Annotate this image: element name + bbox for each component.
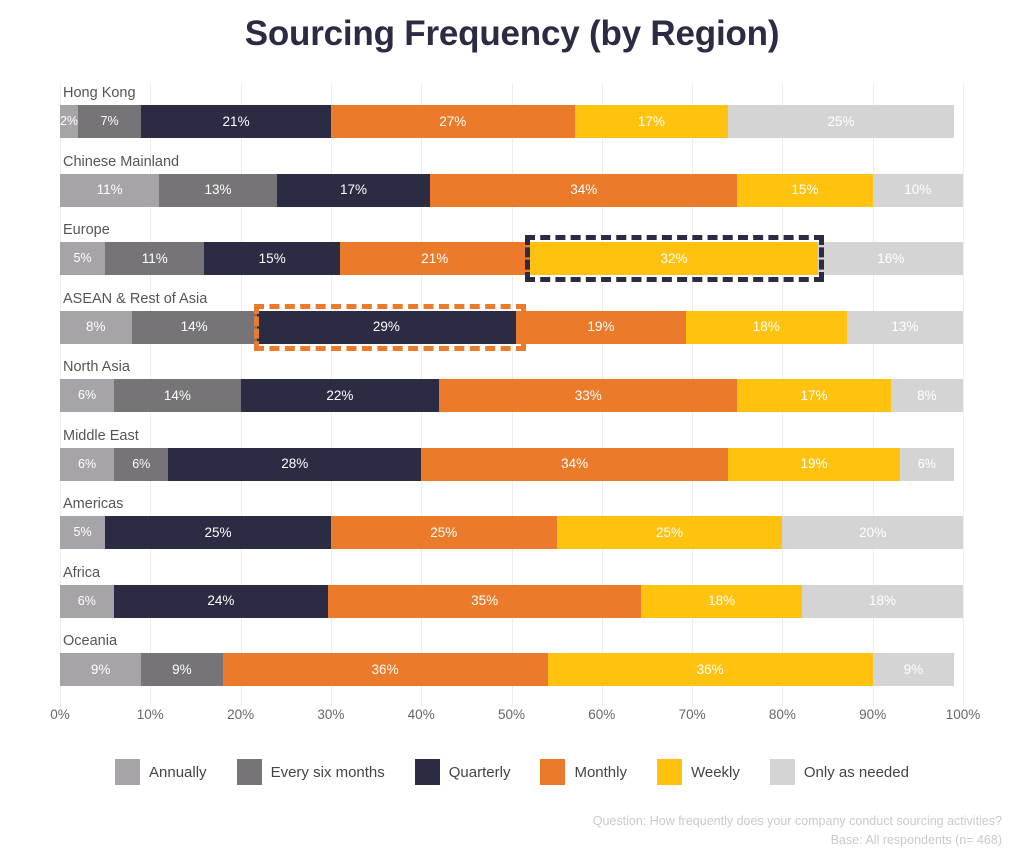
bar-segment[interactable]: 36%: [548, 653, 873, 686]
bar-segment-label: 2%: [60, 115, 78, 128]
bar-segment[interactable]: 32%: [530, 242, 819, 275]
bar-segment-label: 24%: [207, 594, 234, 608]
bar-segment-label: 22%: [326, 389, 353, 403]
bar-segment-label: 6%: [78, 389, 96, 402]
bar-segment[interactable]: 8%: [60, 311, 132, 344]
legend-label: Weekly: [691, 764, 740, 781]
bar-segment[interactable]: 14%: [114, 379, 240, 412]
bar-segment-label: 35%: [471, 594, 498, 608]
bar-segment-label: 5%: [74, 252, 92, 265]
x-axis-tick: 70%: [679, 707, 706, 722]
bar-segment[interactable]: 15%: [204, 242, 339, 275]
bar-segment[interactable]: 24%: [114, 585, 329, 618]
bar-segment-label: 18%: [708, 594, 735, 608]
legend-item[interactable]: Monthly: [540, 759, 627, 785]
row-label: Middle East: [63, 426, 139, 446]
legend: AnnuallyEvery six monthsQuarterlyMonthly…: [0, 759, 1024, 785]
legend-swatch-icon: [415, 759, 440, 785]
bar-segment-label: 27%: [439, 115, 466, 129]
bar-segment[interactable]: 13%: [847, 311, 963, 344]
bar-segment[interactable]: 17%: [737, 379, 891, 412]
bar-segment[interactable]: 22%: [241, 379, 440, 412]
stacked-bar: 11%13%17%34%15%10%: [60, 174, 963, 207]
bar-segment-label: 11%: [97, 183, 123, 197]
bar-segment-label: 18%: [753, 320, 780, 334]
bar-segment[interactable]: 29%: [257, 311, 516, 344]
bar-segment[interactable]: 18%: [686, 311, 847, 344]
bar-segment-label: 25%: [205, 526, 232, 540]
bar-segment-label: 7%: [101, 115, 119, 128]
bar-segment[interactable]: 25%: [557, 516, 783, 549]
legend-swatch-icon: [540, 759, 565, 785]
legend-label: Only as needed: [804, 764, 909, 781]
x-axis-tick: 0%: [50, 707, 70, 722]
bar-segment-label: 36%: [697, 663, 724, 677]
row-label: Americas: [63, 494, 123, 514]
legend-item[interactable]: Every six months: [237, 759, 385, 785]
legend-swatch-icon: [770, 759, 795, 785]
bar-segment[interactable]: 36%: [223, 653, 548, 686]
bar-segment[interactable]: 6%: [114, 448, 168, 481]
bar-segment[interactable]: 11%: [105, 242, 204, 275]
x-axis-tick: 30%: [317, 707, 344, 722]
bar-segment[interactable]: 33%: [439, 379, 737, 412]
stacked-bar: 6%14%22%33%17%8%: [60, 379, 963, 412]
bar-segment-label: 18%: [869, 594, 896, 608]
bar-segment[interactable]: 2%: [60, 105, 78, 138]
x-axis-tick: 10%: [137, 707, 164, 722]
stacked-bar: 8%14%29%19%18%13%: [60, 311, 963, 344]
legend-label: Quarterly: [449, 764, 511, 781]
footnote-base: Base: All respondents (n= 468): [593, 831, 1002, 850]
legend-swatch-icon: [115, 759, 140, 785]
legend-item[interactable]: Weekly: [657, 759, 740, 785]
bar-segment-label: 29%: [373, 320, 400, 334]
bar-segment-label: 19%: [587, 320, 614, 334]
bar-segment[interactable]: 13%: [159, 174, 276, 207]
bar-segment-label: 6%: [78, 595, 96, 608]
legend-item[interactable]: Only as needed: [770, 759, 909, 785]
legend-swatch-icon: [237, 759, 262, 785]
stacked-bar: 9%9%36%36%9%: [60, 653, 963, 686]
bar-segment-label: 20%: [859, 526, 886, 540]
bar-segment-label: 10%: [904, 183, 931, 197]
bar-segment[interactable]: 9%: [60, 653, 141, 686]
x-axis: 0%10%20%30%40%50%60%70%80%90%100%: [60, 707, 963, 733]
bar-segment-label: 14%: [164, 389, 191, 403]
stacked-bar: 5%25%25%25%20%: [60, 516, 963, 549]
x-axis-tick: 20%: [227, 707, 254, 722]
bar-segment-label: 15%: [791, 183, 818, 197]
page-title: Sourcing Frequency (by Region): [0, 14, 1024, 54]
stacked-bar: 5%11%15%21%32%16%: [60, 242, 963, 275]
row-label: Hong Kong: [63, 83, 136, 103]
bar-segment-label: 9%: [904, 663, 924, 677]
bar-segment[interactable]: 7%: [78, 105, 141, 138]
plot-area: Hong Kong2%7%21%27%17%25%Chinese Mainlan…: [60, 83, 963, 707]
bar-segment-label: 6%: [918, 458, 936, 471]
bar-segment[interactable]: 28%: [168, 448, 421, 481]
x-axis-tick: 90%: [859, 707, 886, 722]
bar-segment[interactable]: 21%: [141, 105, 331, 138]
bar-segment[interactable]: 20%: [782, 516, 963, 549]
bar-segment-label: 17%: [340, 183, 367, 197]
bar-segment-label: 13%: [891, 320, 918, 334]
bar-segment-label: 9%: [172, 663, 192, 677]
bar-segment[interactable]: 6%: [60, 379, 114, 412]
bar-segment-label: 16%: [877, 252, 904, 266]
legend-label: Annually: [149, 764, 207, 781]
bar-segment[interactable]: 5%: [60, 242, 105, 275]
bar-segment-label: 34%: [561, 457, 588, 471]
stacked-bar: 6%24%35%18%18%: [60, 585, 963, 618]
x-axis-tick: 80%: [769, 707, 796, 722]
bar-segment-label: 33%: [575, 389, 602, 403]
bar-segment-label: 34%: [570, 183, 597, 197]
chart-root: Sourcing Frequency (by Region) Hong Kong…: [0, 0, 1024, 866]
row-label: Oceania: [63, 631, 117, 651]
bar-segment-label: 13%: [205, 183, 232, 197]
legend-swatch-icon: [657, 759, 682, 785]
row-label: Chinese Mainland: [63, 152, 179, 172]
bar-segment-label: 32%: [660, 252, 687, 266]
row-label: ASEAN & Rest of Asia: [63, 289, 207, 309]
row-label: North Asia: [63, 357, 130, 377]
bar-segment-label: 19%: [800, 457, 827, 471]
footnote-question: Question: How frequently does your compa…: [593, 812, 1002, 831]
bar-segment[interactable]: 27%: [331, 105, 575, 138]
bar-segment-label: 17%: [800, 389, 827, 403]
gridline: [963, 83, 964, 707]
bar-segment[interactable]: 9%: [141, 653, 222, 686]
x-axis-tick: 50%: [498, 707, 525, 722]
legend-label: Monthly: [574, 764, 627, 781]
bar-segment[interactable]: 14%: [132, 311, 257, 344]
bar-segment[interactable]: 16%: [818, 242, 962, 275]
bar-segment-label: 21%: [223, 115, 250, 129]
bar-segment[interactable]: 6%: [900, 448, 954, 481]
bar-segment[interactable]: 6%: [60, 585, 114, 618]
bar-segment[interactable]: 18%: [802, 585, 963, 618]
bar-segment-label: 25%: [828, 115, 855, 129]
bar-segment[interactable]: 19%: [516, 311, 686, 344]
x-axis-tick: 40%: [408, 707, 435, 722]
bar-segment-label: 6%: [132, 458, 150, 471]
x-axis-tick: 100%: [946, 707, 981, 722]
bar-segment[interactable]: 11%: [60, 174, 159, 207]
bar-segment[interactable]: 34%: [430, 174, 737, 207]
bar-segment-label: 6%: [78, 458, 96, 471]
bar-segment[interactable]: 18%: [641, 585, 802, 618]
bar-segment-label: 5%: [74, 526, 92, 539]
bar-segment[interactable]: 9%: [873, 653, 954, 686]
x-axis-tick: 60%: [588, 707, 615, 722]
bar-segment[interactable]: 25%: [105, 516, 331, 549]
bar-segment-label: 15%: [259, 252, 286, 266]
bar-segment[interactable]: 17%: [277, 174, 431, 207]
bar-segment-label: 25%: [656, 526, 683, 540]
legend-item[interactable]: Annually: [115, 759, 207, 785]
bar-segment[interactable]: 6%: [60, 448, 114, 481]
bar-segment-label: 17%: [638, 115, 665, 129]
bar-segment[interactable]: 25%: [728, 105, 954, 138]
bar-segment-label: 28%: [281, 457, 308, 471]
row-label: Africa: [63, 563, 100, 583]
row-label: Europe: [63, 220, 110, 240]
bar-segment-label: 14%: [181, 320, 208, 334]
bar-segment[interactable]: 21%: [340, 242, 530, 275]
bar-segment[interactable]: 15%: [737, 174, 872, 207]
bar-segment[interactable]: 34%: [421, 448, 728, 481]
bar-segment[interactable]: 10%: [873, 174, 963, 207]
bar-segment-label: 11%: [142, 252, 168, 266]
bar-segment[interactable]: 17%: [575, 105, 729, 138]
bar-segment[interactable]: 19%: [728, 448, 900, 481]
legend-item[interactable]: Quarterly: [415, 759, 511, 785]
stacked-bar: 2%7%21%27%17%25%: [60, 105, 963, 138]
footnote: Question: How frequently does your compa…: [593, 812, 1002, 850]
bar-segment[interactable]: 25%: [331, 516, 557, 549]
bar-segment[interactable]: 5%: [60, 516, 105, 549]
legend-label: Every six months: [271, 764, 385, 781]
bar-segment[interactable]: 35%: [328, 585, 641, 618]
bar-segment-label: 36%: [372, 663, 399, 677]
bar-segment-label: 8%: [86, 320, 106, 334]
stacked-bar: 6%6%28%34%19%6%: [60, 448, 963, 481]
bar-segment-label: 25%: [430, 526, 457, 540]
bar-segment-label: 8%: [917, 389, 937, 403]
bar-segment-label: 9%: [91, 663, 111, 677]
bar-segment-label: 21%: [421, 252, 448, 266]
bar-segment[interactable]: 8%: [891, 379, 963, 412]
